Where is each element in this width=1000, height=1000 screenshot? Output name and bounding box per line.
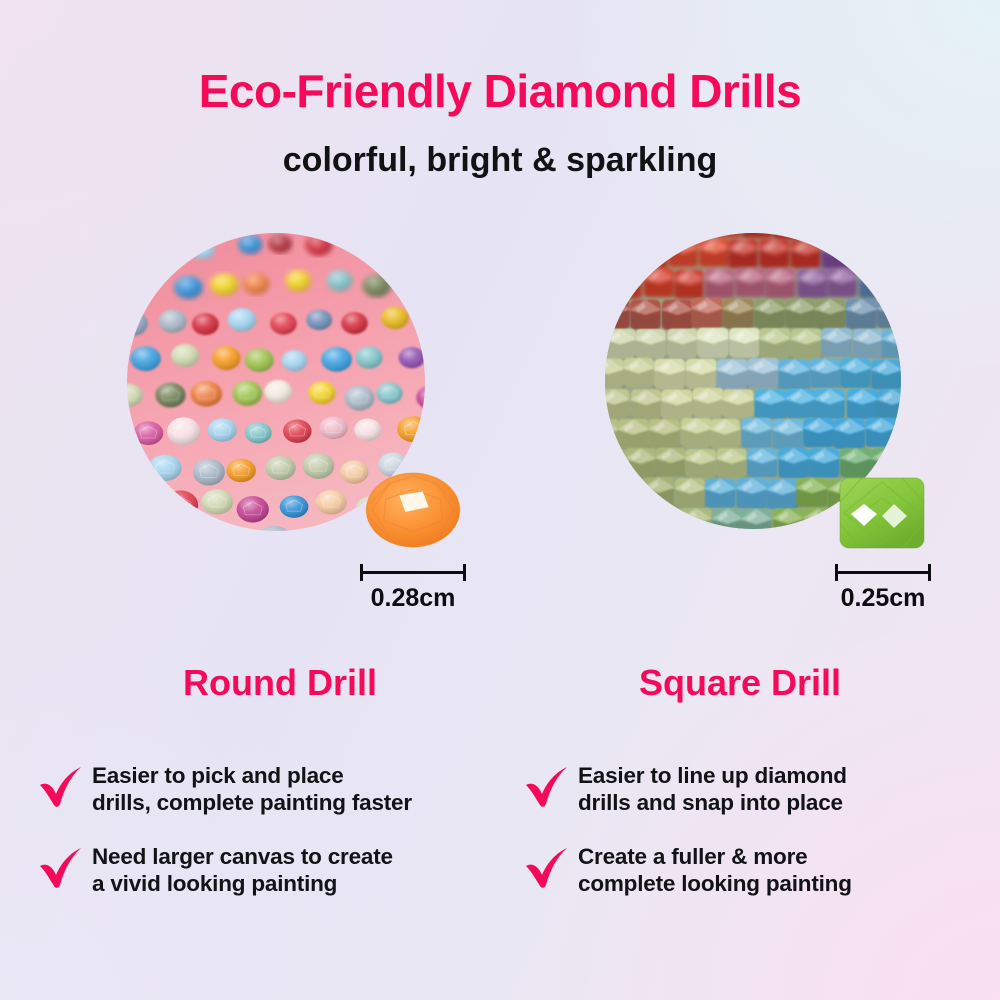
check-icon — [38, 766, 84, 810]
list-item: Easier to line up diamond drills and sna… — [524, 762, 994, 817]
round-drill-measurement-label: 0.28cm — [360, 584, 466, 613]
caliper-cap-right — [463, 564, 466, 581]
list-item-text: Easier to line up diamond drills and sna… — [578, 762, 847, 817]
square-drill-benefits: Easier to line up diamond drills and sna… — [524, 762, 994, 924]
page-subtitle: colorful, bright & sparkling — [0, 141, 1000, 180]
list-item: Need larger canvas to create a vivid loo… — [38, 843, 508, 898]
caliper-measure-icon — [835, 564, 931, 580]
orange-round-drill-closeup — [364, 470, 462, 550]
square-drill-title: Square Drill — [520, 662, 960, 704]
check-icon — [38, 847, 84, 891]
round-drill-measure: 0.28cm — [360, 564, 466, 613]
green-square-drill-closeup — [836, 472, 928, 554]
page-title: Eco-Friendly Diamond Drills — [0, 64, 1000, 118]
list-item: Easier to pick and place drills, complet… — [38, 762, 508, 817]
list-item-text: Need larger canvas to create a vivid loo… — [92, 843, 393, 898]
round-drill-benefits: Easier to pick and place drills, complet… — [38, 762, 508, 924]
infographic-canvas: Eco-Friendly Diamond Drills colorful, br… — [0, 0, 1000, 1000]
check-icon — [524, 766, 570, 810]
caliper-line — [360, 571, 466, 574]
caliper-line — [835, 571, 931, 574]
caliper-measure-icon — [360, 564, 466, 580]
square-drill-measure: 0.25cm — [835, 564, 931, 613]
list-item-text: Easier to pick and place drills, complet… — [92, 762, 412, 817]
round-drill-title: Round Drill — [60, 662, 500, 704]
check-icon — [524, 847, 570, 891]
caliper-cap-right — [928, 564, 931, 581]
list-item-text: Create a fuller & more complete looking … — [578, 843, 852, 898]
square-drill-measurement-label: 0.25cm — [835, 584, 931, 613]
list-item: Create a fuller & more complete looking … — [524, 843, 994, 898]
